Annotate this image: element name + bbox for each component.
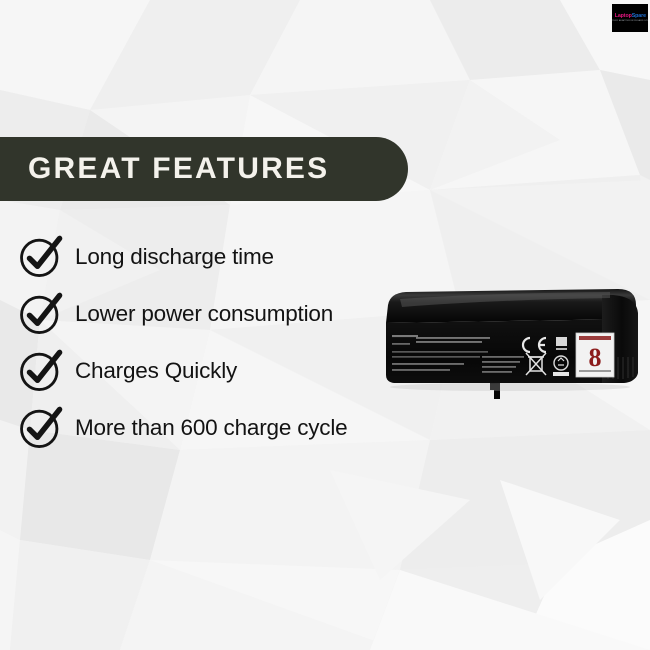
list-item: Charges Quickly [18, 342, 418, 399]
logo-tagline: BATTERY ADAPTER KEYBOARD STORE [612, 20, 648, 22]
list-item-label: Charges Quickly [75, 358, 237, 384]
logo-wordmark-part1: Laptop [614, 12, 631, 18]
certification-box-icon: 8 [576, 333, 614, 377]
headline-banner: GREAT FEATURES [0, 137, 408, 201]
list-item: Lower power consumption [18, 285, 418, 342]
product-feature-graphic: LaptopSpare BATTERY ADAPTER KEYBOARD STO… [0, 0, 650, 650]
check-circle-icon [18, 348, 64, 394]
svg-text:8: 8 [589, 343, 602, 372]
check-circle-icon [18, 234, 64, 280]
page-title: GREAT FEATURES [28, 152, 329, 186]
feature-list: Long discharge time Lower power consumpt… [18, 228, 418, 456]
brand-logo[interactable]: LaptopSpare BATTERY ADAPTER KEYBOARD STO… [612, 4, 648, 32]
list-item: Long discharge time [18, 228, 418, 285]
check-circle-icon [18, 291, 64, 337]
product-image-battery: 8 [370, 283, 642, 408]
logo-wordmark-part2: Spare [631, 12, 645, 18]
logo-wordmark: LaptopSpare [614, 13, 645, 18]
check-circle-icon [18, 405, 64, 451]
list-item-label: More than 600 charge cycle [75, 415, 347, 441]
recycle-box-icon [556, 337, 567, 350]
list-item-label: Long discharge time [75, 244, 274, 270]
list-item-label: Lower power consumption [75, 301, 333, 327]
product-shadow [390, 383, 630, 391]
list-item: More than 600 charge cycle [18, 399, 418, 456]
